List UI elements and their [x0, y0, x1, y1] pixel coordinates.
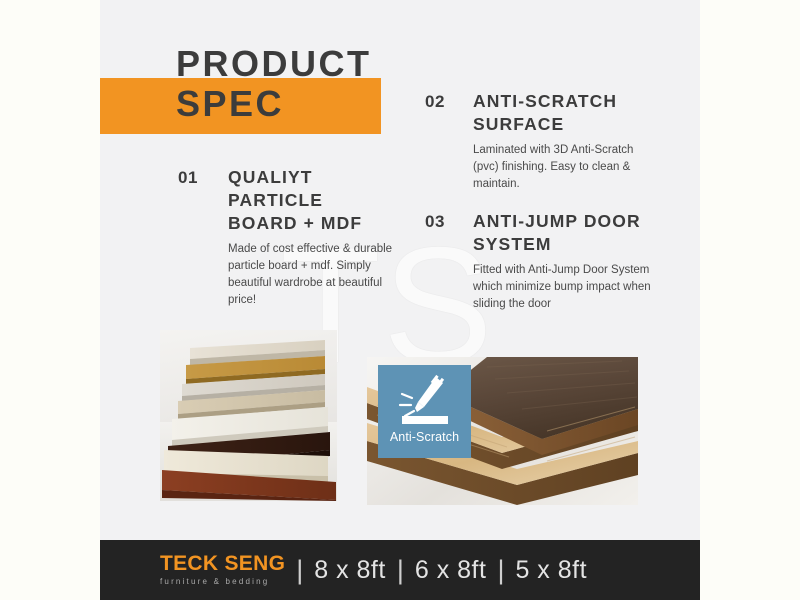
footer-bar: TECK SENG furniture & bedding | 8 x 8ft …: [100, 540, 700, 600]
spec-description: Fitted with Anti-Jump Door System which …: [473, 262, 655, 313]
footer-separator: |: [397, 557, 404, 584]
footer-separator: |: [296, 557, 303, 584]
spec-heading: ANTI-JUMP DOOR SYSTEM: [473, 210, 655, 256]
spec-number: 01: [178, 166, 228, 188]
footer-separator: |: [497, 557, 504, 584]
scratch-pen-icon: [396, 374, 454, 426]
page-title-line-1: PRODUCT: [176, 44, 506, 84]
spec-number: 02: [425, 90, 473, 112]
spec-description: Laminated with 3D Anti-Scratch (pvc) fin…: [473, 142, 655, 193]
spec-item-02: 02 ANTI-SCRATCH SURFACE Laminated with 3…: [425, 90, 655, 193]
spec-body: QUALIYT PARTICLE BOARD + MDF Made of cos…: [228, 166, 393, 309]
poster-canvas: TS PRODUCT SPEC 01 QUALIYT PARTICLE BOAR…: [100, 0, 700, 600]
spec-number: 03: [425, 210, 473, 232]
brand-logo: TECK SENG furniture & bedding: [160, 553, 285, 588]
anti-scratch-badge: Anti-Scratch: [378, 365, 471, 458]
board-stack-illustration: [160, 330, 337, 501]
size-options: 8 x 8ft | 6 x 8ft | 5 x 8ft: [314, 557, 587, 584]
size-option-2: 6 x 8ft: [415, 558, 487, 583]
brand-logo-name: TECK SENG: [160, 553, 285, 575]
photo-board-stack: [160, 330, 337, 501]
spec-item-03: 03 ANTI-JUMP DOOR SYSTEM Fitted with Ant…: [425, 210, 655, 313]
spec-body: ANTI-JUMP DOOR SYSTEM Fitted with Anti-J…: [473, 210, 655, 313]
spec-heading: QUALIYT PARTICLE BOARD + MDF: [228, 166, 393, 235]
photo-walnut-boards: Anti-Scratch: [367, 357, 638, 505]
size-option-1: 8 x 8ft: [314, 558, 386, 583]
brand-logo-tagline: furniture & bedding: [160, 576, 285, 588]
spec-heading: ANTI-SCRATCH SURFACE: [473, 90, 655, 136]
badge-label: Anti-Scratch: [390, 430, 459, 444]
spec-description: Made of cost effective & durable particl…: [228, 241, 393, 309]
size-option-3: 5 x 8ft: [515, 558, 587, 583]
spec-item-01: 01 QUALIYT PARTICLE BOARD + MDF Made of …: [178, 166, 393, 309]
spec-body: ANTI-SCRATCH SURFACE Laminated with 3D A…: [473, 90, 655, 193]
